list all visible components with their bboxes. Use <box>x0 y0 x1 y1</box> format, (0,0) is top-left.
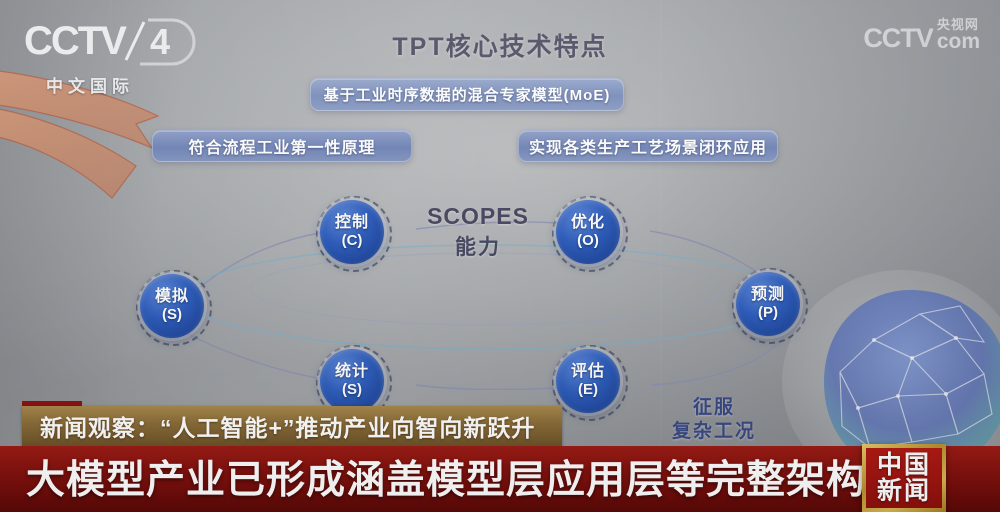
node-label-cn: 模拟 <box>155 289 189 306</box>
pill-banner-top: 基于工业时序数据的混合专家模型(MoE) <box>310 78 624 111</box>
program-badge: 中国 新闻 <box>862 444 946 512</box>
program-badge-line2: 新闻 <box>877 478 931 505</box>
center-label-line1: SCOPES <box>403 203 553 230</box>
node-label-cn: 控制 <box>335 215 369 232</box>
scopes-node-optimize[interactable]: 优化 (O) <box>556 200 620 264</box>
node-label-en: (C) <box>342 232 363 249</box>
center-label-line2: 能力 <box>403 231 553 261</box>
lower-third-subtitle-bar: 新闻观察：“人工智能+”推动产业向智向新跃升 <box>22 406 562 446</box>
caption-line2: 复杂工况 <box>672 420 756 444</box>
scopes-node-evaluate[interactable]: 评估 (E) <box>556 349 620 413</box>
node-label-cn: 评估 <box>571 364 605 381</box>
pill-banner-left: 符合流程工业第一性原理 <box>152 130 412 162</box>
lower-third-headline-bar: 大模型产业已形成涵盖模型层应用层等完整架构 <box>0 446 1000 512</box>
pill-banner-right: 实现各类生产工艺场景闭环应用 <box>518 130 778 162</box>
channel-subtitle: 中文国际 <box>46 72 134 97</box>
lower-third-subtitle: 新闻观察：“人工智能+”推动产业向智向新跃升 <box>22 409 535 443</box>
node-label-en: (S) <box>342 381 362 398</box>
scopes-node-simulate[interactable]: 模拟 (S) <box>140 274 204 338</box>
slide-title: TPT核心技术特点 <box>0 27 1000 63</box>
broadcast-screenshot: CCTV 4 中文国际 CCTV 央视网 com TPT核心技术特点 基于工业时… <box>0 0 1000 512</box>
diagram-center-label: SCOPES 能力 <box>403 203 553 261</box>
program-badge-line1: 中国 <box>877 452 931 479</box>
caption-line1: 征服 <box>672 396 756 420</box>
node-label-cn: 优化 <box>571 215 605 232</box>
node-label-en: (S) <box>162 306 182 323</box>
node-label-en: (O) <box>577 232 599 249</box>
lower-third-headline: 大模型产业已形成涵盖模型层应用层等完整架构 <box>26 449 866 505</box>
scopes-node-control[interactable]: 控制 (C) <box>320 200 384 264</box>
node-label-en: (E) <box>578 381 598 398</box>
scopes-node-statistics[interactable]: 统计 (S) <box>320 349 384 413</box>
scopes-diagram: 模拟 (S) 控制 (C) 优化 (O) 预测 (P) 统计 (S) 评估 (E… <box>120 185 840 390</box>
slide-caption: 征服 复杂工况 <box>672 396 756 444</box>
node-label-cn: 统计 <box>335 364 369 381</box>
